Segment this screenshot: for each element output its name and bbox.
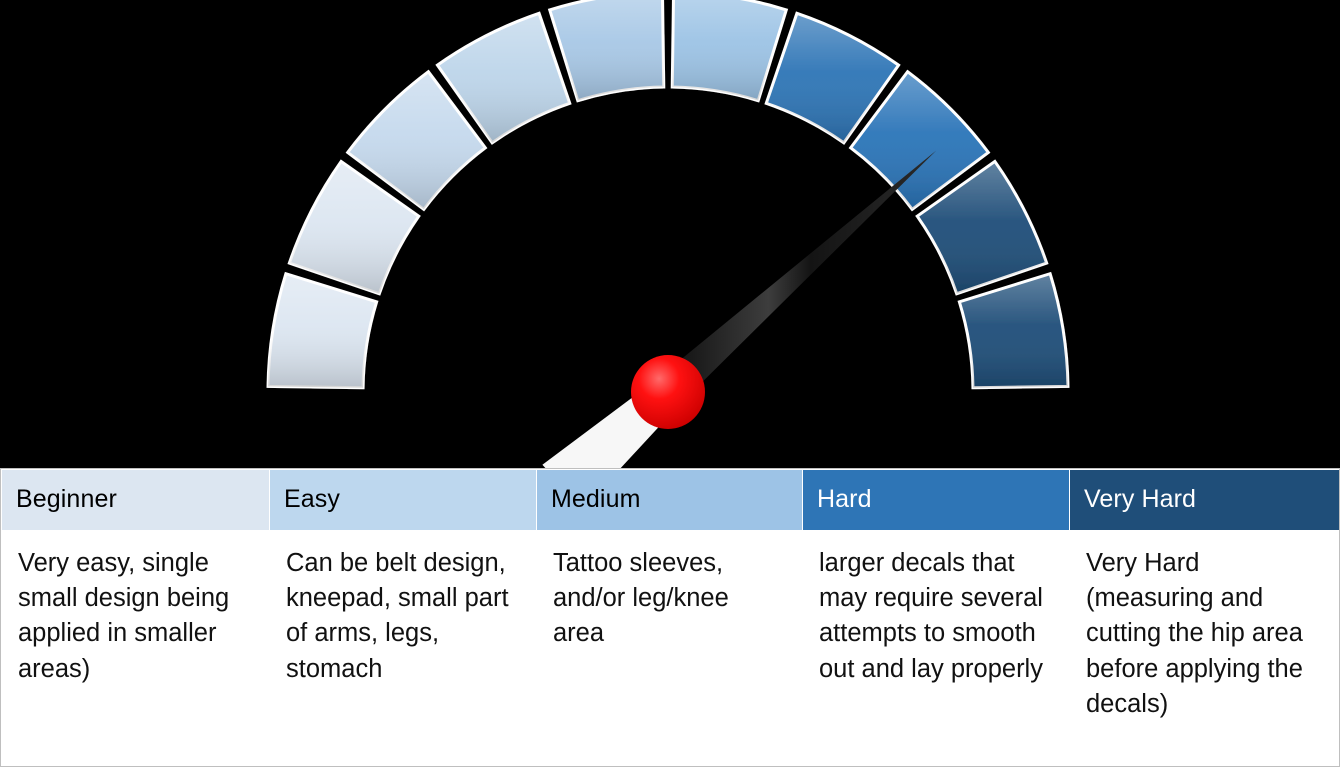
gauge-svg — [0, 0, 1340, 480]
column-header-easy[interactable]: Easy — [270, 470, 537, 532]
beginner-description-text: Very easy, single small design being app… — [18, 546, 253, 687]
gauge-segment-sheen-5 — [672, 0, 786, 101]
needle-hub — [631, 355, 705, 429]
very-hard-description-text: Very Hard (measuring and cutting the hip… — [1086, 546, 1325, 722]
column-header-hard[interactable]: Hard — [803, 470, 1070, 532]
gauge-needle-group — [542, 150, 936, 480]
needle-body — [657, 150, 937, 404]
gauge-segment-sheen-4 — [550, 0, 664, 101]
cell-medium-description: Tattoo sleeves, and/or leg/knee area — [537, 531, 803, 766]
easy-description-text: Can be belt design, kneepad, small part … — [286, 546, 520, 687]
hard-description-text: larger decals that may require several a… — [819, 546, 1053, 687]
difficulty-gauge — [0, 0, 1340, 480]
table-header-row: Beginner Easy Medium Hard Very Hard — [2, 470, 1340, 532]
slide-root: Beginner Easy Medium Hard Very Hard Very… — [0, 0, 1340, 767]
gauge-segment-group — [268, 0, 1068, 388]
column-header-medium[interactable]: Medium — [537, 470, 803, 532]
cell-very-hard-description: Very Hard (measuring and cutting the hip… — [1070, 531, 1340, 766]
cell-hard-description: larger decals that may require several a… — [803, 531, 1070, 766]
gauge-segment-sheen-9 — [959, 274, 1068, 388]
cell-easy-description: Can be belt design, kneepad, small part … — [270, 531, 537, 766]
table-body-row: Very easy, single small design being app… — [2, 531, 1340, 766]
column-header-very-hard[interactable]: Very Hard — [1070, 470, 1340, 532]
difficulty-levels-table: Beginner Easy Medium Hard Very Hard Very… — [0, 468, 1340, 767]
gauge-segment-sheen-0 — [268, 274, 377, 388]
medium-description-text: Tattoo sleeves, and/or leg/knee area — [553, 546, 786, 652]
cell-beginner-description: Very easy, single small design being app… — [2, 531, 270, 766]
column-header-beginner[interactable]: Beginner — [2, 470, 270, 532]
